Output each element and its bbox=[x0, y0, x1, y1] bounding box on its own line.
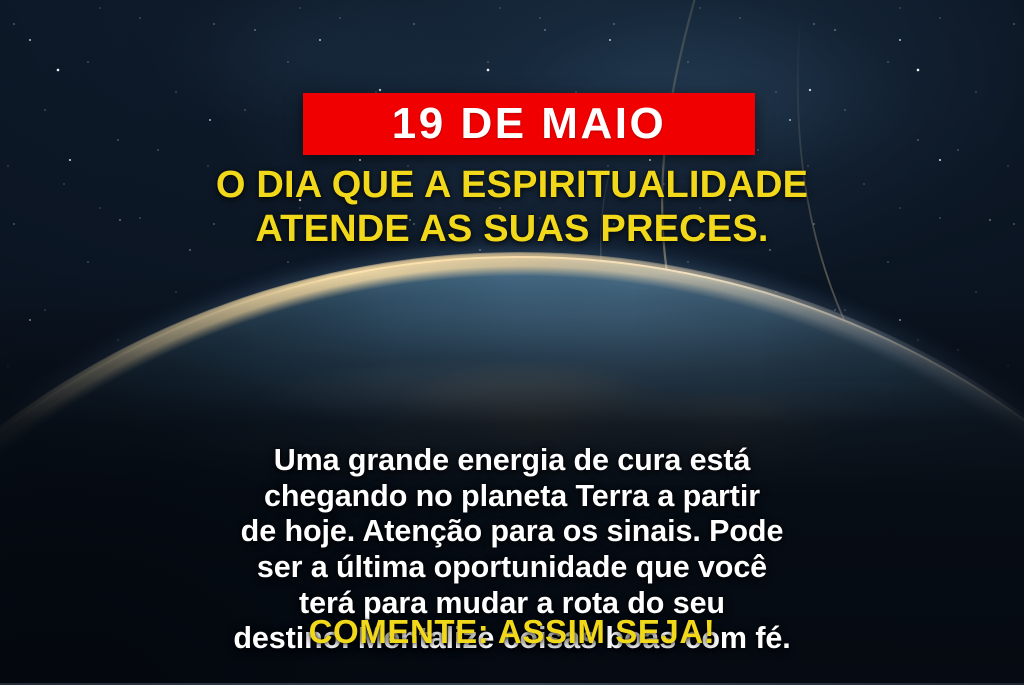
social-media-poster: 19 DE MAIO O DIA QUE A ESPIRITUALIDADE A… bbox=[0, 0, 1024, 685]
headline-line-1: O DIA QUE A ESPIRITUALIDADE bbox=[40, 163, 984, 207]
body-line-2: chegando no planeta Terra a partir bbox=[30, 479, 994, 515]
body-line-3: de hoje. Atenção para os sinais. Pode bbox=[30, 514, 994, 550]
headline-line-2: ATENDE AS SUAS PRECES. bbox=[40, 207, 984, 251]
headline: O DIA QUE A ESPIRITUALIDADE ATENDE AS SU… bbox=[0, 163, 1024, 252]
body-line-1: Uma grande energia de cura está bbox=[30, 443, 994, 479]
poster-content: 19 DE MAIO O DIA QUE A ESPIRITUALIDADE A… bbox=[0, 0, 1024, 685]
date-banner-label: 19 DE MAIO bbox=[392, 102, 666, 146]
date-banner: 19 DE MAIO bbox=[303, 93, 755, 155]
body-line-4: ser a última oportunidade que você bbox=[30, 550, 994, 586]
call-to-action-text: COMENTE: ASSIM SEJA! bbox=[0, 613, 1024, 651]
